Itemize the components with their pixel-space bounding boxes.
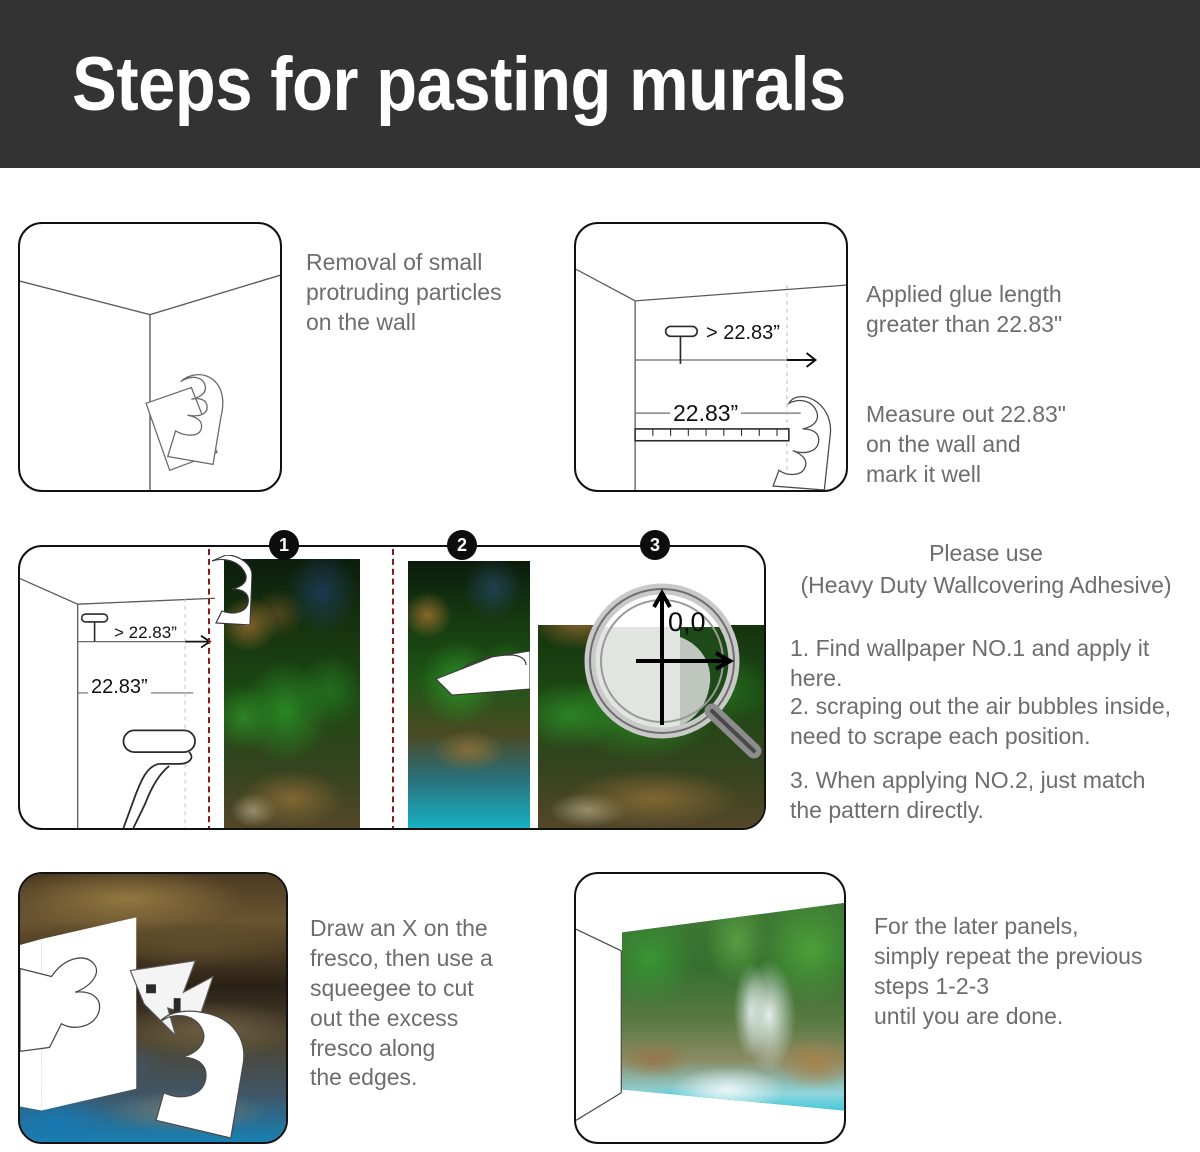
seam-line-1 [208,549,210,830]
wall-corner-panel [18,222,282,492]
instruction-3: 3. When applying NO.2, just match the pa… [790,766,1190,826]
wall-measure-linework [576,224,846,490]
measure-length-label-2: 22.83” [88,676,151,699]
finished-mural-panel [574,872,846,1144]
magnifier-icon [576,575,766,765]
instruction-sheet: Steps for pasting murals Removal of smal… [0,0,1200,1152]
glue-length-label-2: > 22.83” [114,623,177,643]
glue-length-label: > 22.83” [706,322,780,345]
mural-strip-2 [408,561,530,830]
step-badge-2: 2 [447,530,477,560]
step5-caption: For the later panels, simply repeat the … [874,912,1200,1032]
step-badge-1: 1 [269,530,299,560]
cut-flap-and-squeegee-icon [20,874,286,1142]
finished-mural-artwork [622,902,846,1120]
instruction-1: 1. Find wallpaper NO.1 and apply it here… [790,634,1190,694]
peeling-hand-icon-1 [206,555,252,625]
seam-line-2 [392,549,394,830]
apply-panels-panel: 0,0 > 22.83” 22.83” [18,545,766,830]
peeling-flap-hand-icon [434,633,530,697]
glue-measure-panel: > 22.83” 22.83” [574,222,848,492]
step1-caption: Removal of small protruding particles on… [306,248,576,338]
instruction-2: 2. scraping out the air bubbles inside, … [790,692,1190,752]
origin-coordinate-label: 0,0 [668,607,706,638]
step2-caption-bottom: Measure out 22.83" on the wall and mark … [866,400,1166,490]
page-title: Steps for pasting murals [0,41,846,128]
step-badge-3: 3 [640,530,670,560]
measure-length-label: 22.83” [670,400,741,427]
hand-with-scraper-icon [20,224,280,490]
trim-excess-panel [18,872,288,1144]
adhesive-title: Please use [790,540,1182,567]
step2-caption-top: Applied glue length greater than 22.83" [866,280,1166,340]
header-bar: Steps for pasting murals [0,0,1200,168]
adhesive-subtitle: (Heavy Duty Wallcovering Adhesive) [780,572,1192,599]
step4-caption: Draw an X on the fresco, then use a sque… [310,914,560,1093]
